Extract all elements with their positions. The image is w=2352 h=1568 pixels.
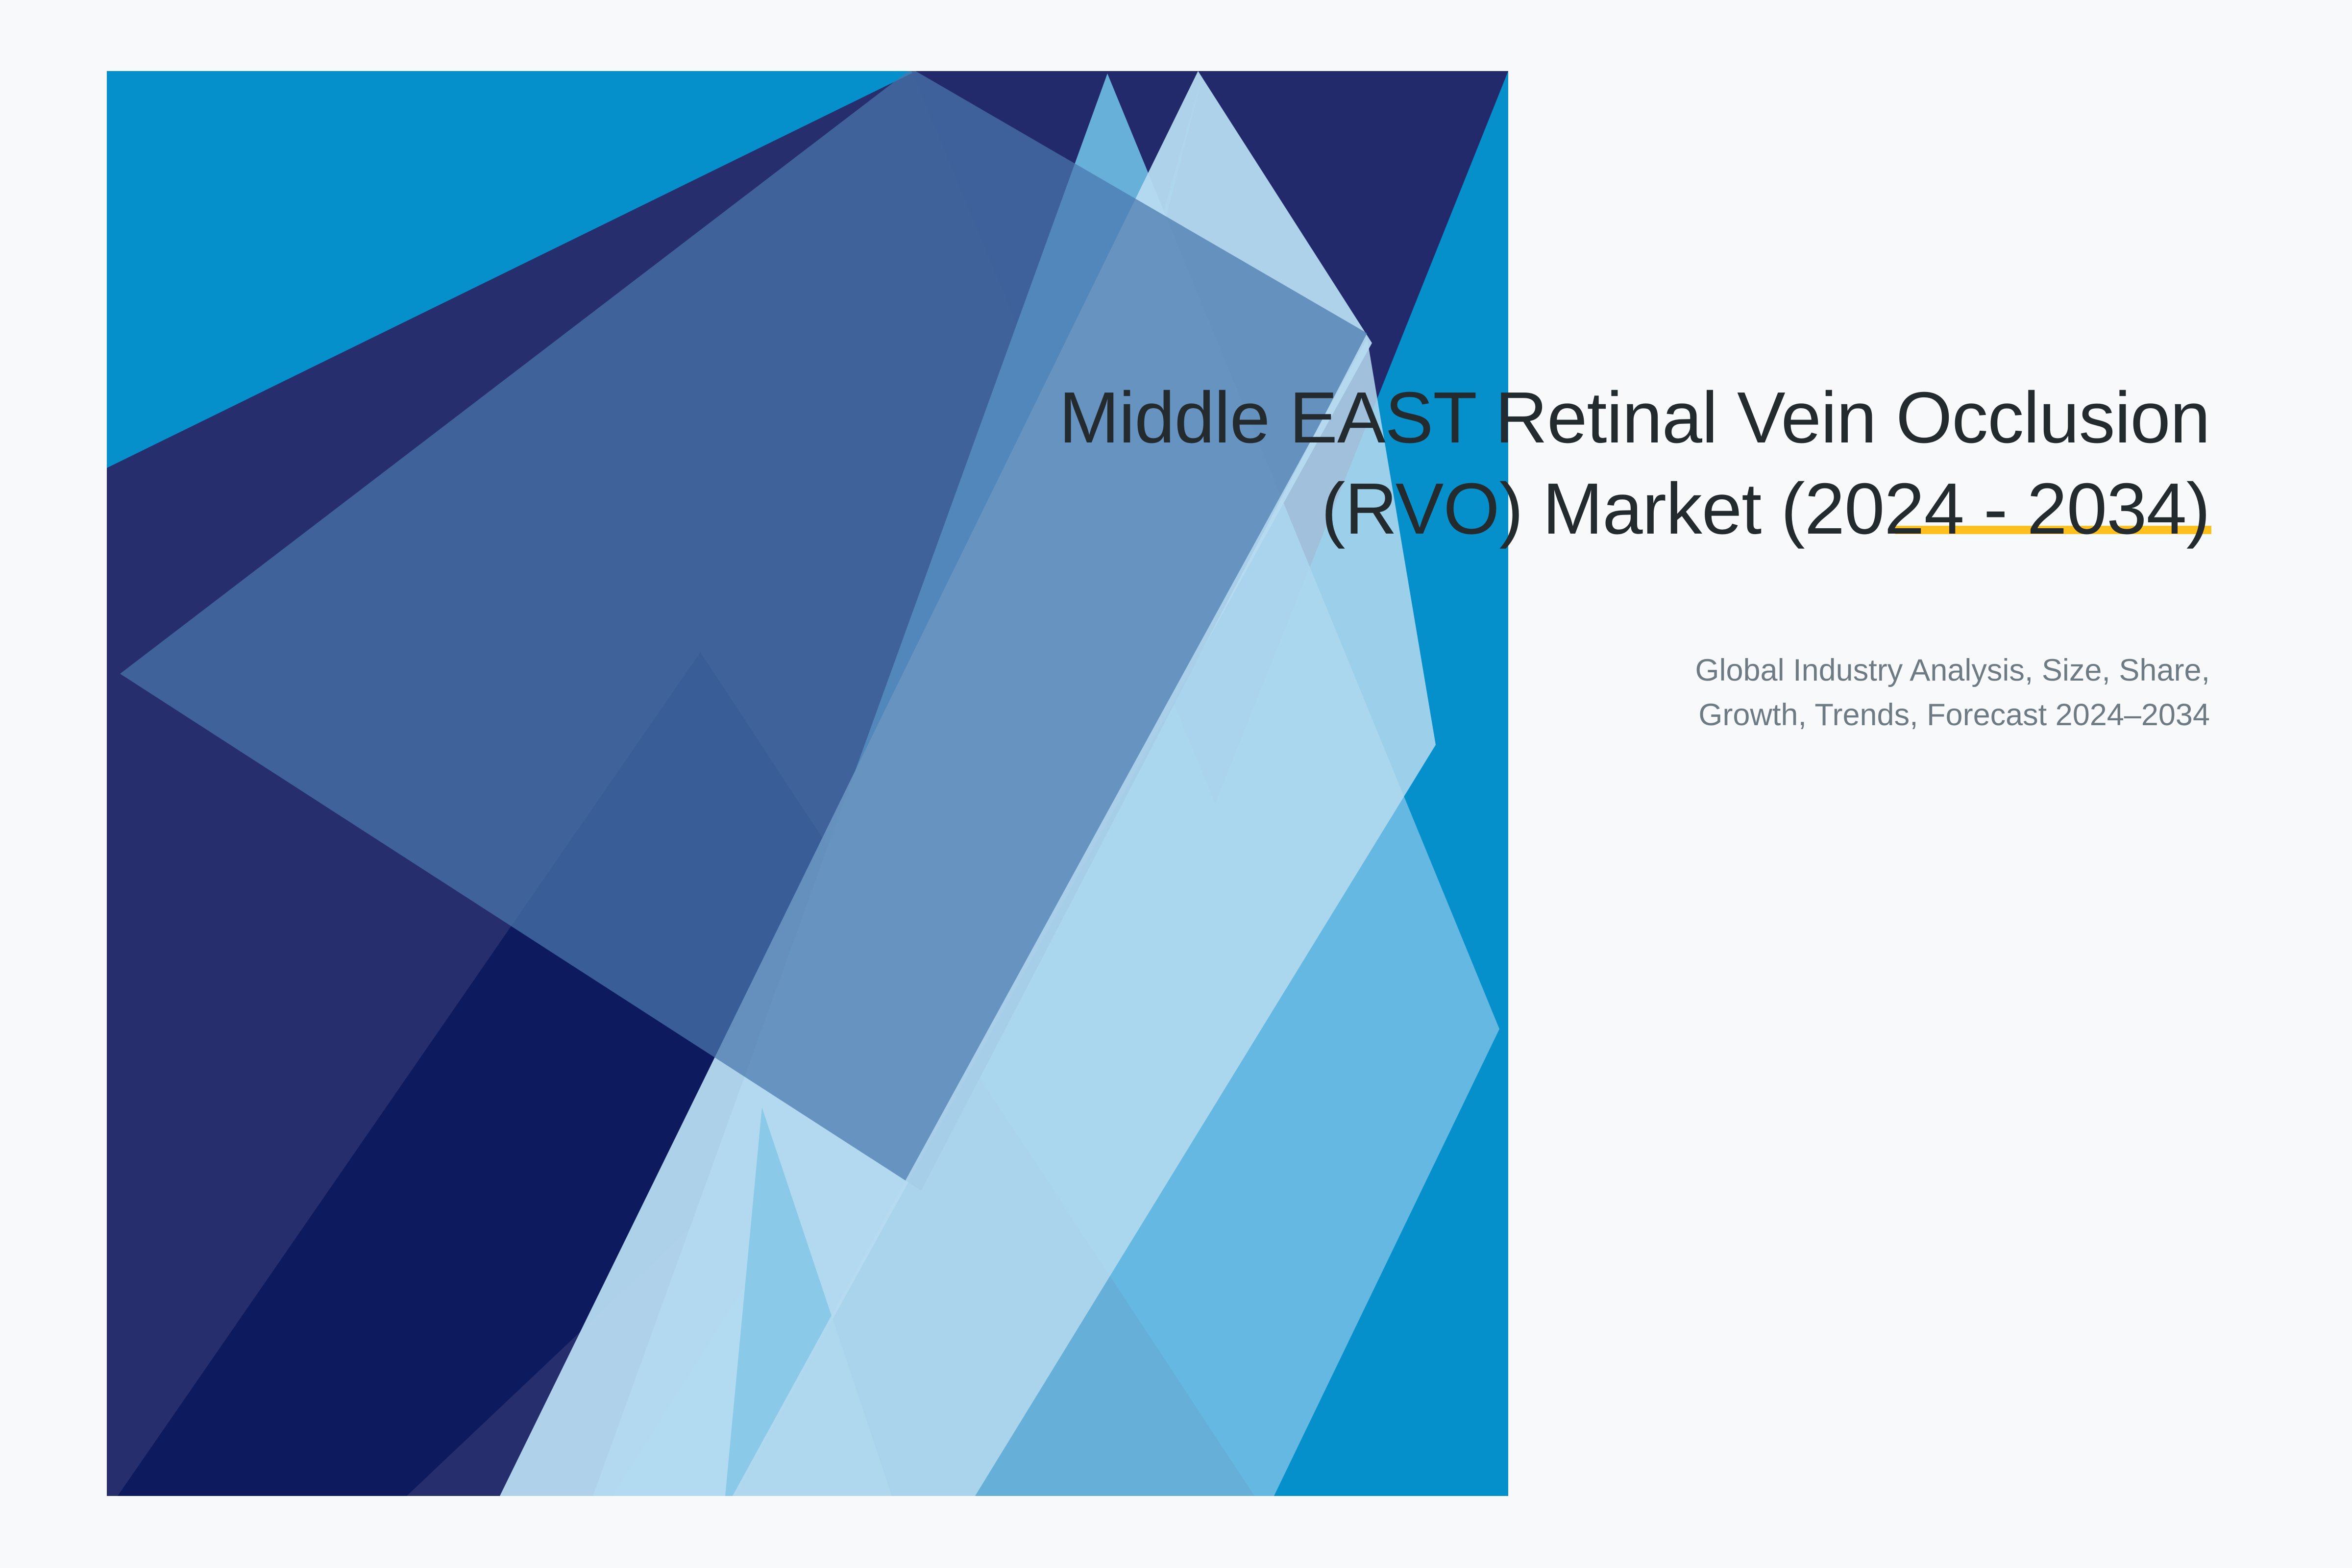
shape-mid-blue-band: [593, 73, 1499, 1496]
page-title: Middle EAST Retinal Vein Occlusion (RVO)…: [887, 372, 2210, 555]
cover-text-block: Middle EAST Retinal Vein Occlusion (RVO)…: [887, 372, 2210, 738]
artwork-shape-group: [107, 69, 1508, 1496]
report-cover-page: Middle EAST Retinal Vein Occlusion (RVO)…: [0, 0, 2352, 1568]
shape-pale-blue-sheet: [500, 71, 1372, 1496]
shape-sky-blue-notch: [725, 1107, 892, 1496]
cover-artwork: [0, 0, 2352, 1568]
shape-deep-navy-spear: [702, 654, 1254, 1496]
shape-cyan-field: [107, 71, 1508, 1496]
shape-deep-navy-chevron: [118, 652, 833, 1496]
shape-navy-wedge: [107, 71, 1508, 1496]
page-subtitle: Global Industry Analysis, Size, Share, G…: [887, 648, 2210, 738]
